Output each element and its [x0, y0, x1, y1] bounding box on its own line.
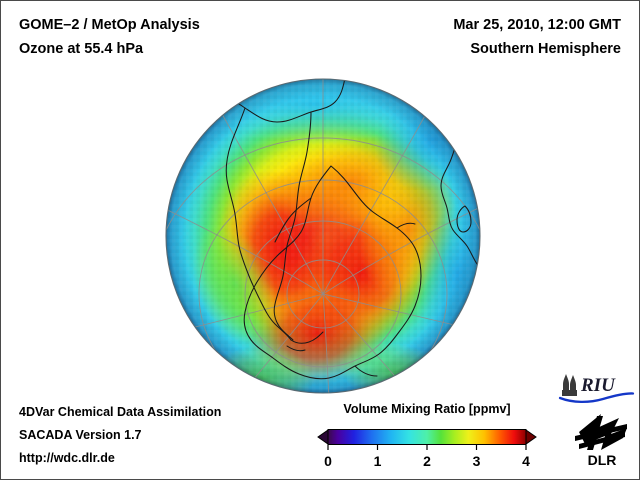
globe-map — [165, 78, 481, 394]
page-title: GOME–2 / MetOp Analysis — [19, 13, 200, 37]
footer-text: 4DVar Chemical Data Assimilation SACADA … — [19, 401, 221, 470]
dlr-mark-icon — [575, 414, 627, 450]
colorbar-gradient — [328, 430, 526, 445]
header-left: GOME–2 / MetOp Analysis Ozone at 55.4 hP… — [19, 13, 200, 61]
page-subtitle: Ozone at 55.4 hPa — [19, 37, 200, 61]
colorbar-extend-high — [526, 430, 536, 444]
dlr-logo: DLR — [571, 410, 633, 468]
colorbar-tick-0: 0 — [324, 453, 332, 469]
colorbar-extend-low — [318, 430, 328, 444]
version-label: SACADA Version 1.7 — [19, 424, 221, 447]
colorbar-tick-2: 2 — [423, 453, 431, 469]
region-label: Southern Hemisphere — [453, 37, 621, 61]
dlr-wordmark: DLR — [588, 452, 617, 468]
header-right: Mar 25, 2010, 12:00 GMT Southern Hemisph… — [453, 13, 621, 61]
riu-wordmark: RIU — [580, 375, 616, 396]
colorbar-tick-3: 3 — [473, 453, 481, 469]
colorbar-tick-4: 4 — [522, 453, 530, 469]
globe-data-field — [165, 78, 481, 394]
colorbar-ticks — [328, 445, 526, 451]
cathedral-icon — [562, 374, 577, 396]
ozone-analysis-figure: GOME–2 / MetOp Analysis Ozone at 55.4 hP… — [0, 0, 640, 480]
colorbar-tick-1: 1 — [374, 453, 382, 469]
colorbar: Volume Mixing Ratio [ppmv] — [313, 401, 541, 474]
source-url[interactable]: http://wdc.dlr.de — [19, 447, 221, 470]
timestamp-label: Mar 25, 2010, 12:00 GMT — [453, 13, 621, 37]
colorbar-title: Volume Mixing Ratio [ppmv] — [313, 401, 541, 417]
method-label: 4DVar Chemical Data Assimilation — [19, 401, 221, 424]
riu-logo: RIU — [557, 372, 635, 404]
